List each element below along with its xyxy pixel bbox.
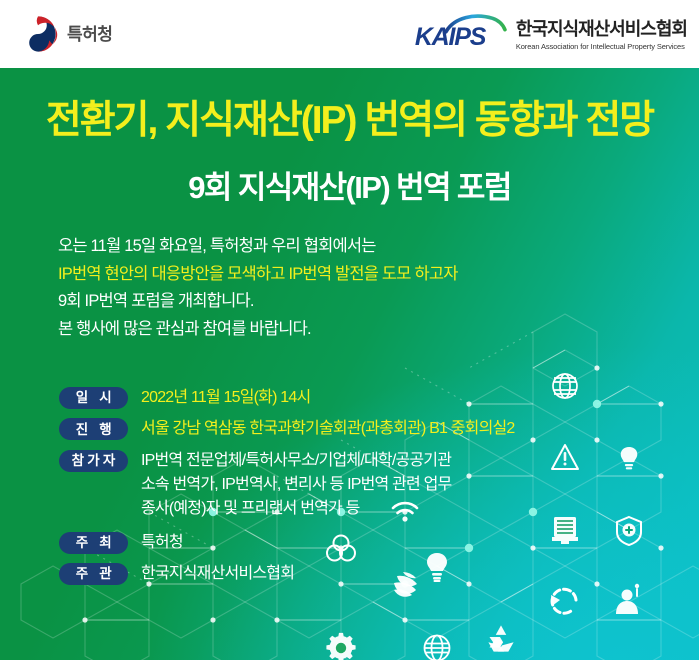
detail-label-char: 주 xyxy=(76,536,88,550)
detail-value: 2022년 11월 15일(화) 14시 xyxy=(141,386,310,410)
detail-label-char: 주 xyxy=(76,567,88,581)
globe-grid-icon xyxy=(553,374,577,398)
kaips-word-text: KAIPS xyxy=(415,25,485,50)
detail-label-char: 자 xyxy=(103,454,115,468)
detail-row-participants: 참 가 자 IP번역 전문업체/특허사무소/기업체/대학/공공기관 소속 번역가… xyxy=(59,449,515,522)
detail-value: 한국지식재산서비스협회 xyxy=(141,562,294,586)
event-details-list: 일 시 2022년 11월 15일(화) 14시 진 행 서울 강남 역삼동 한… xyxy=(59,386,515,593)
detail-label-date: 일 시 xyxy=(59,387,128,409)
detail-label-venue: 진 행 xyxy=(59,418,128,440)
building-icon xyxy=(552,517,578,544)
detail-label-char: 진 xyxy=(76,423,88,437)
poster-body: 전환기, 지식재산(IP) 번역의 동향과 전망 9회 지식재산(IP) 번역 … xyxy=(0,68,699,660)
detail-value: 소속 번역가, IP번역사, 변리사 등 IP번역 관련 업무 xyxy=(141,473,451,497)
detail-label-char: 관 xyxy=(99,567,111,581)
kaips-english-name: Korean Association for Intellectual Prop… xyxy=(516,42,687,51)
kaips-wordmark: KAIPS xyxy=(415,12,507,52)
detail-value: 종사(예정)자 및 프리랜서 번역가 등 xyxy=(141,497,451,521)
poster-header: 특허청 KAIPS 한국지식재산서비스협회 xyxy=(0,0,699,68)
warning-triangle-icon xyxy=(552,445,578,469)
shield-plus-icon xyxy=(617,517,641,545)
detail-values: 한국지식재산서비스협회 xyxy=(141,562,294,586)
detail-label-char: 최 xyxy=(99,536,111,550)
detail-value: 특허청 xyxy=(141,531,183,555)
detail-row-host: 주 최 특허청 xyxy=(59,531,515,555)
event-poster: 특허청 KAIPS 한국지식재산서비스협회 xyxy=(0,0,699,660)
detail-label-char: 가 xyxy=(87,454,99,468)
taegeuk-emblem-icon xyxy=(18,14,58,54)
poster-subtitle: 9회 지식재산(IP) 번역 포럼 xyxy=(0,171,699,205)
detail-value: 서울 강남 역삼동 한국과학기술회관(과총회관) B1 중회의실2 xyxy=(141,417,515,441)
detail-values: 서울 강남 역삼동 한국과학기술회관(과총회관) B1 중회의실2 xyxy=(141,417,515,441)
detail-values: 특허청 xyxy=(141,531,183,555)
poster-title: 전환기, 지식재산(IP) 번역의 동향과 전망 xyxy=(0,100,699,143)
kaips-logo: KAIPS 한국지식재산서비스협회 Korean Association for… xyxy=(415,12,687,52)
kaips-korean-name: 한국지식재산서비스협회 xyxy=(516,20,687,39)
detail-row-organizer: 주 관 한국지식재산서비스협회 xyxy=(59,562,515,586)
detail-value: IP번역 전문업체/특허사무소/기업체/대학/공공기관 xyxy=(141,449,451,473)
kipo-label: 특허청 xyxy=(67,26,112,43)
intro-line: IP번역 현안의 대응방안을 모색하고 IP번역 발전을 도모 하고자 xyxy=(58,264,458,285)
intro-line: 9회 IP번역 포럼을 개최합니다. xyxy=(58,291,458,312)
detail-values: IP번역 전문업체/특허사무소/기업체/대학/공공기관 소속 번역가, IP번역… xyxy=(141,449,451,522)
refresh-icon xyxy=(551,589,576,613)
user-presenter-icon xyxy=(616,584,639,614)
detail-label-host: 주 최 xyxy=(59,532,128,554)
detail-label-organizer: 주 관 xyxy=(59,563,128,585)
detail-label-participants: 참 가 자 xyxy=(59,450,128,472)
detail-label-char: 시 xyxy=(99,391,111,405)
intro-paragraph: 오는 11월 15일 화요일, 특허청과 우리 협회에서는 IP번역 현안의 대… xyxy=(58,236,458,347)
detail-label-char: 참 xyxy=(72,454,84,468)
detail-values: 2022년 11월 15일(화) 14시 xyxy=(141,386,310,410)
intro-line: 본 행사에 많은 관심과 참여를 바랍니다. xyxy=(58,319,458,340)
kipo-logo: 특허청 xyxy=(18,14,112,54)
intro-line: 오는 11월 15일 화요일, 특허청과 우리 협회에서는 xyxy=(58,236,458,257)
detail-label-char: 일 xyxy=(76,391,88,405)
detail-row-date: 일 시 2022년 11월 15일(화) 14시 xyxy=(59,386,515,410)
gear-icon xyxy=(326,633,355,660)
detail-row-venue: 진 행 서울 강남 역삼동 한국과학기술회관(과총회관) B1 중회의실2 xyxy=(59,417,515,441)
detail-label-char: 행 xyxy=(99,423,111,437)
recycle-icon xyxy=(488,625,513,651)
lightbulb-icon xyxy=(621,447,638,469)
globe-meridian-icon xyxy=(425,636,450,660)
